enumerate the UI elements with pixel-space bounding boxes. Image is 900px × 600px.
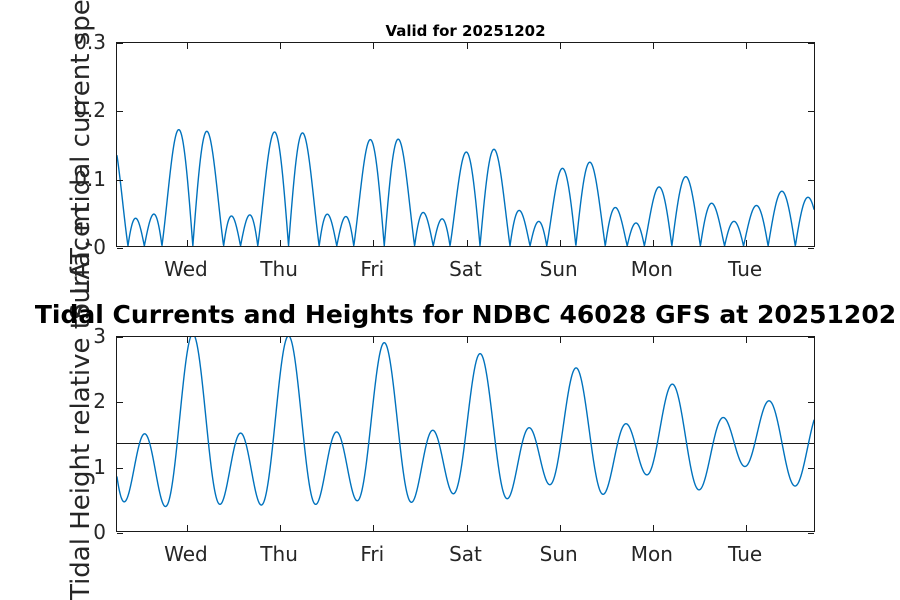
y-tick-label: 0.2 (0, 100, 106, 120)
y-tick-mark (117, 111, 123, 112)
y-tick-mark (117, 43, 123, 44)
x-tick-mark (373, 337, 374, 343)
y-tick-mark (808, 337, 814, 338)
y-tick-mark (808, 111, 814, 112)
tidal-height-plot-line (117, 337, 814, 531)
x-tick-mark (746, 240, 747, 246)
x-tick-mark (653, 43, 654, 49)
subtitle-valid-for: Valid for 20251202 (385, 22, 545, 40)
y-tick-mark (808, 43, 814, 44)
x-tick-label-mon: Mon (631, 259, 673, 279)
x-tick-mark (653, 337, 654, 343)
x-tick-mark (560, 525, 561, 531)
x-tick-mark (746, 525, 747, 531)
y-tick-mark (117, 402, 123, 403)
axes-tidal-currents (116, 42, 815, 247)
y-tick-mark (808, 533, 814, 534)
x-tick-label-fri: Fri (360, 544, 384, 564)
y-tick-mark (117, 337, 123, 338)
x-tick-mark (187, 337, 188, 343)
page-title: Tidal Currents and Heights for NDBC 4602… (35, 300, 896, 329)
x-tick-mark (560, 337, 561, 343)
x-tick-mark (746, 337, 747, 343)
x-tick-mark (187, 240, 188, 246)
x-tick-label-sun: Sun (540, 544, 578, 564)
y-tick-mark (117, 180, 123, 181)
x-tick-mark (653, 525, 654, 531)
y-tick-mark (117, 533, 123, 534)
y-tick-mark (117, 468, 123, 469)
y-tick-label: 0 (0, 522, 106, 542)
x-tick-label-wed: Wed (164, 544, 208, 564)
x-tick-label-tue: Tue (728, 259, 762, 279)
x-tick-mark (373, 525, 374, 531)
x-tick-label-sat: Sat (449, 259, 482, 279)
x-tick-label-sat: Sat (449, 544, 482, 564)
y-tick-label: 2 (0, 391, 106, 411)
x-tick-label-tue: Tue (728, 544, 762, 564)
x-tick-mark (746, 43, 747, 49)
x-tick-mark (467, 525, 468, 531)
tidal-figure: Surface tidal current speed, kn Valid fo… (0, 0, 900, 600)
x-tick-mark (373, 240, 374, 246)
y-tick-mark (808, 468, 814, 469)
y-tick-label: 0.3 (0, 32, 106, 52)
axes-tidal-heights (116, 336, 815, 532)
y-tick-mark (808, 402, 814, 403)
x-tick-mark (280, 240, 281, 246)
y-tick-label: 1 (0, 457, 106, 477)
x-tick-mark (560, 43, 561, 49)
x-tick-mark (187, 43, 188, 49)
x-tick-mark (467, 337, 468, 343)
x-tick-mark (373, 43, 374, 49)
y-tick-mark (808, 180, 814, 181)
x-tick-label-sun: Sun (540, 259, 578, 279)
x-tick-label-thu: Thu (260, 259, 298, 279)
x-tick-mark (280, 525, 281, 531)
x-tick-mark (280, 43, 281, 49)
x-tick-mark (187, 525, 188, 531)
x-tick-label-mon: Mon (631, 544, 673, 564)
x-tick-mark (653, 240, 654, 246)
x-tick-mark (467, 43, 468, 49)
x-tick-label-wed: Wed (164, 259, 208, 279)
x-tick-mark (467, 240, 468, 246)
x-tick-mark (560, 240, 561, 246)
y-tick-mark (808, 248, 814, 249)
x-tick-mark (280, 337, 281, 343)
y-tick-mark (117, 248, 123, 249)
y-tick-label: 3 (0, 326, 106, 346)
x-tick-label-thu: Thu (260, 544, 298, 564)
x-tick-label-fri: Fri (360, 259, 384, 279)
tidal-current-plot-line (117, 43, 814, 246)
y-tick-label: 0 (0, 237, 106, 257)
y-tick-label: 0.1 (0, 169, 106, 189)
